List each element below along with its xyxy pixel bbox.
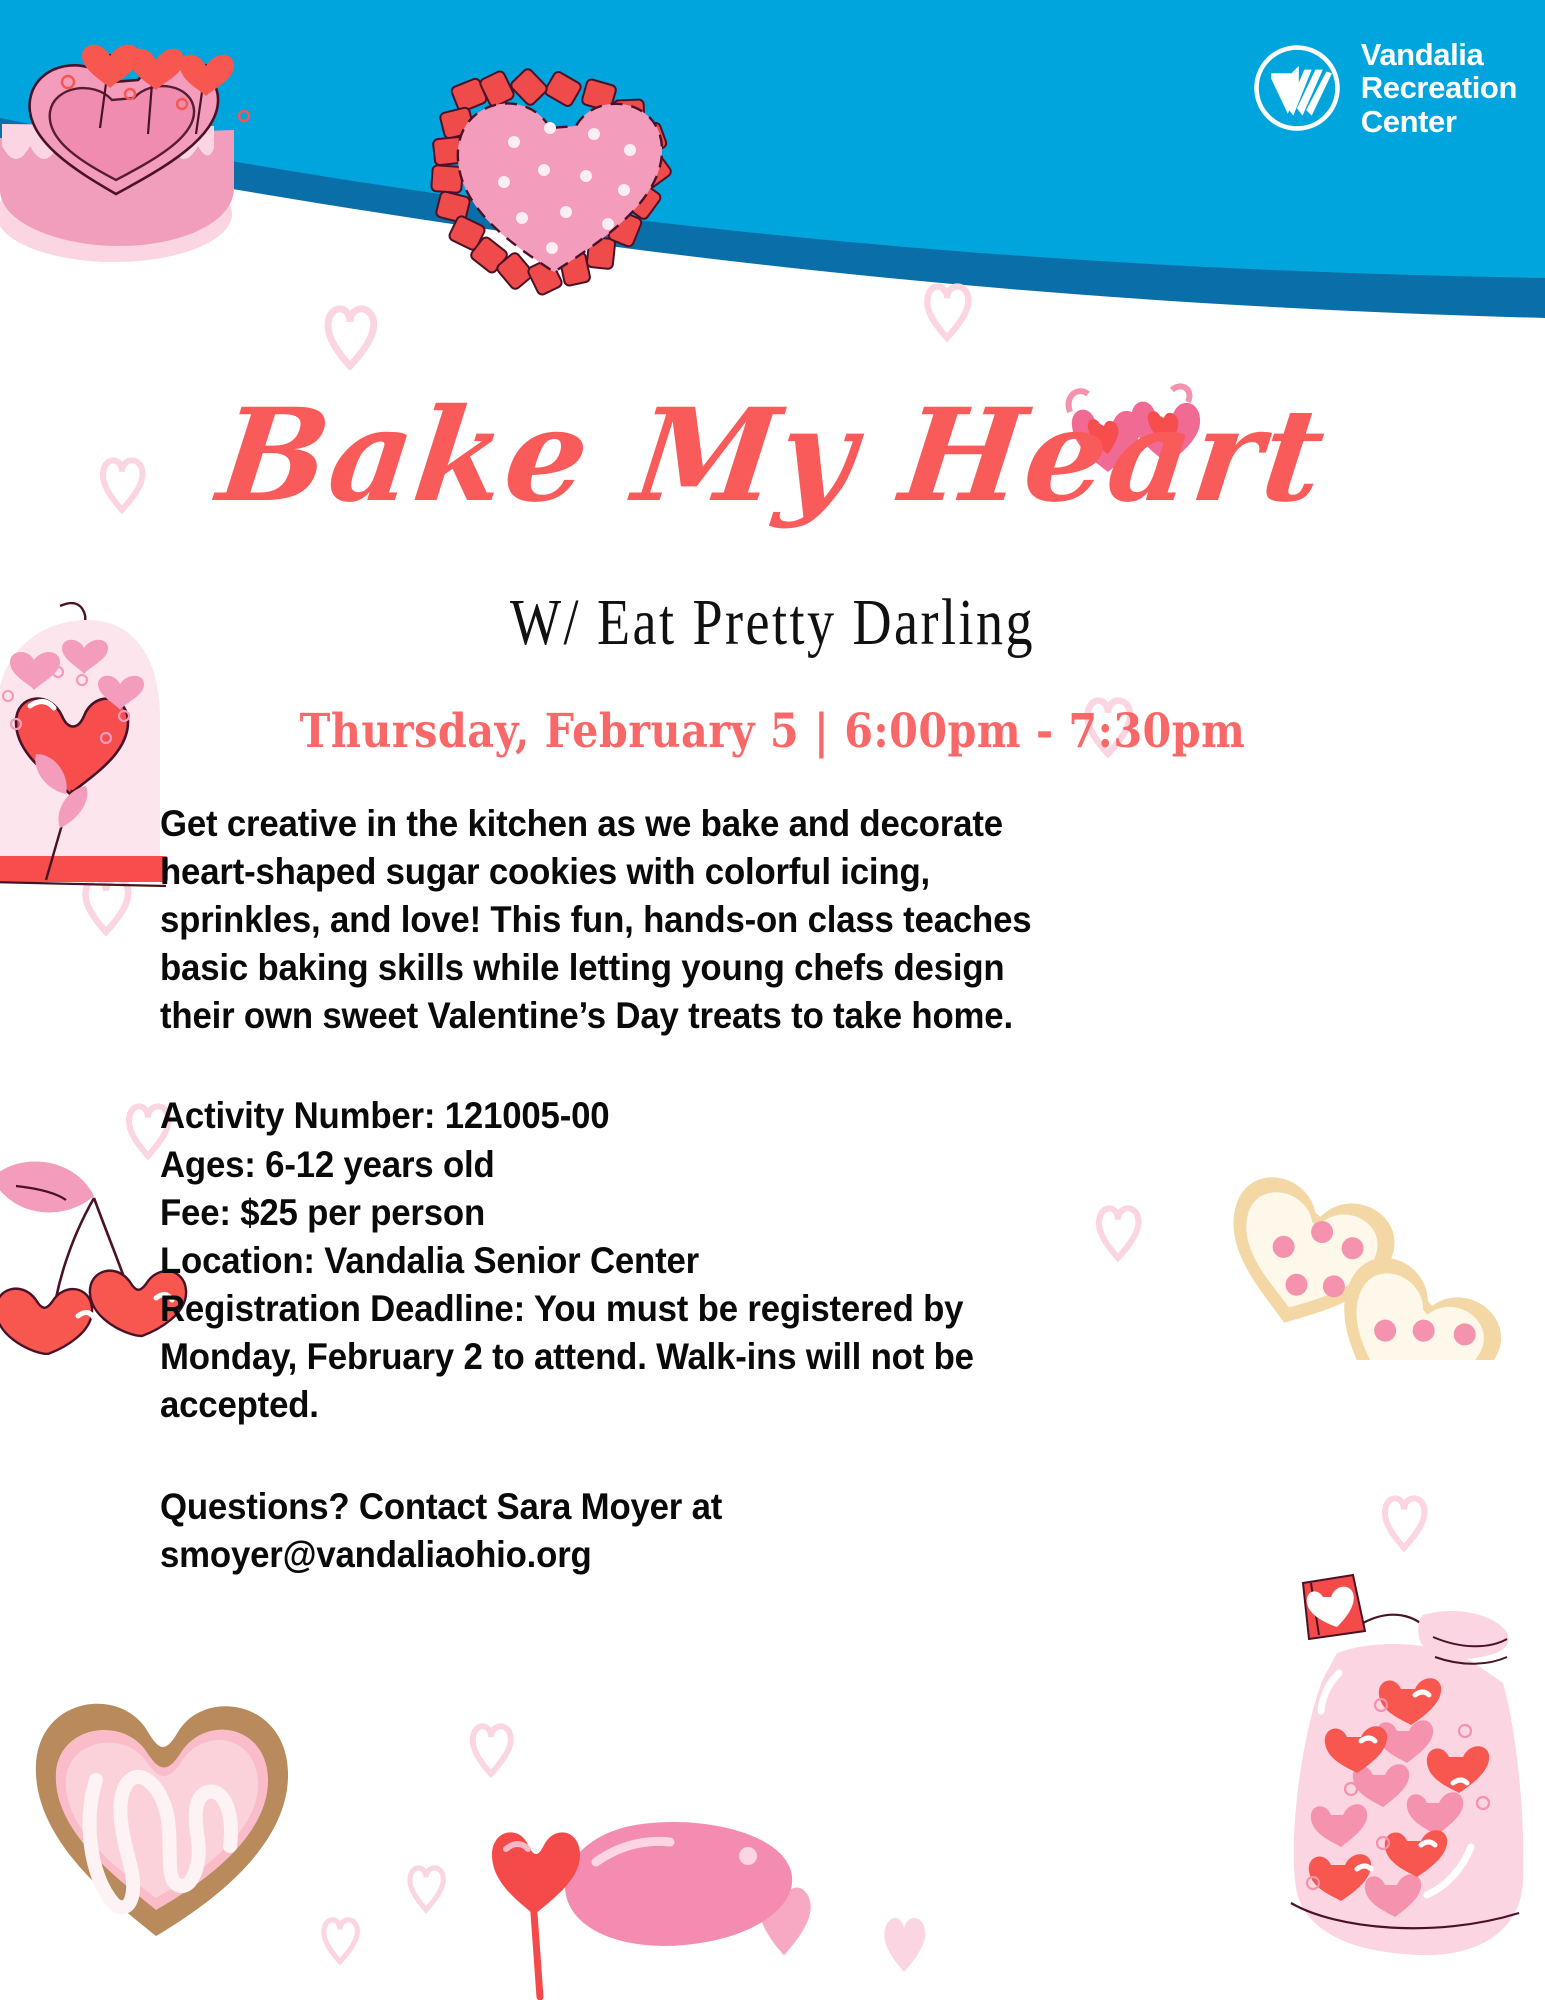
solid-heart-doodle-icon [748, 1878, 820, 1960]
event-datetime: Thursday, February 5 | 6:00pm - 7:30pm [93, 708, 1453, 755]
outline-heart-doodle-icon [920, 278, 974, 342]
outline-heart-doodle-icon [78, 870, 134, 936]
solid-heart-doodle-icon [876, 1910, 932, 1976]
contact-block: Questions? Contact Sara Moyer at smoyer@… [160, 1483, 1100, 1579]
body-content: Get creative in the kitchen as we bake a… [160, 800, 1100, 1579]
iced-heart-cookies-icon [1205, 1105, 1535, 1360]
page-subtitle: W/ Eat Pretty Darling [139, 590, 1406, 656]
contact-email[interactable]: smoyer@vandaliaohio.org [160, 1531, 1044, 1579]
brand-logo: Vandalia Recreation Center [1251, 38, 1517, 138]
outline-heart-doodle-icon [318, 1912, 362, 1966]
frosted-heart-cookie-icon [18, 1668, 298, 1958]
banner-white-wedge [0, 170, 1545, 340]
page-title: Bake My Heart [0, 392, 1545, 520]
detail-location: Location: Vandalia Senior Center [160, 1237, 1044, 1285]
detail-fee: Fee: $25 per person [160, 1189, 1044, 1237]
brand-name: Vandalia Recreation Center [1361, 38, 1517, 138]
detail-ages: Ages: 6-12 years old [160, 1141, 1044, 1189]
event-description: Get creative in the kitchen as we bake a… [160, 800, 1044, 1040]
brand-line-3: Center [1361, 105, 1517, 138]
ruffled-heart-cookie-icon [418, 58, 708, 298]
detail-registration-deadline: Registration Deadline: You must be regis… [160, 1285, 1044, 1429]
flyer-page: Vandalia Recreation Center [0, 0, 1545, 2000]
heart-jar-icon [1275, 1545, 1540, 1965]
brand-line-1: Vandalia [1361, 38, 1517, 71]
outline-heart-doodle-icon [404, 1860, 448, 1914]
outline-heart-doodle-icon [320, 300, 380, 370]
event-details-list: Activity Number: 121005-00 Ages: 6-12 ye… [160, 1092, 1100, 1429]
outline-heart-doodle-icon [1378, 1490, 1430, 1552]
pink-blob-icon [550, 1810, 800, 1960]
brand-line-2: Recreation [1361, 71, 1517, 104]
heart-cake-icon [0, 18, 252, 268]
contact-prompt: Questions? Contact Sara Moyer at [160, 1483, 1044, 1531]
detail-activity-number: Activity Number: 121005-00 [160, 1092, 1044, 1140]
vandalia-v-logo-icon [1251, 42, 1343, 134]
heart-lollipop-icon [470, 1815, 600, 2000]
outline-heart-doodle-icon [466, 1718, 516, 1778]
